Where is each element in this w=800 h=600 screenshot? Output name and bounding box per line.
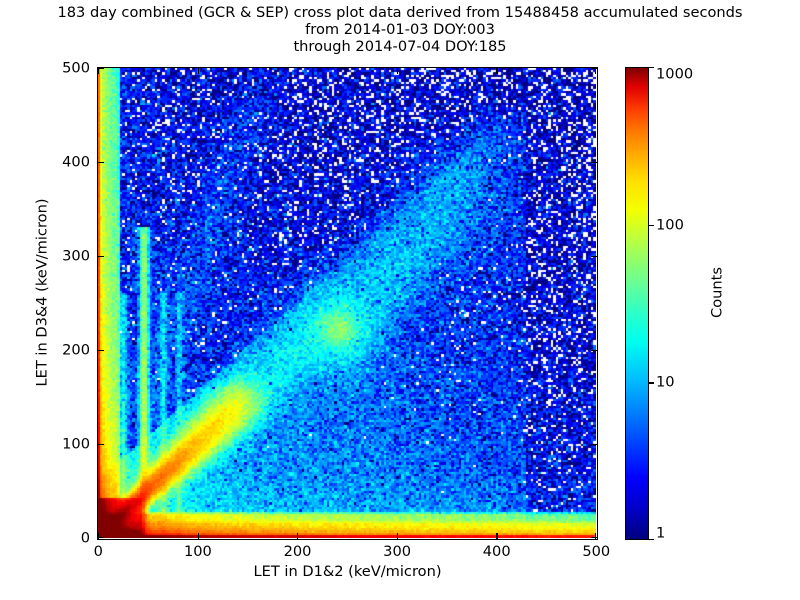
title-line-1: 183 day combined (GCR & SEP) cross plot … [0, 4, 800, 21]
colorbar-ticklabel-1: 1 [656, 525, 665, 542]
y-ticklabel-100: 100 [35, 436, 90, 453]
figure-title: 183 day combined (GCR & SEP) cross plot … [0, 4, 800, 56]
x-ticklabel-300: 300 [383, 543, 411, 560]
colorbar-tick-1 [649, 539, 654, 540]
histogram-canvas [98, 68, 596, 538]
y-tick-500 [591, 68, 597, 69]
y-tick-0 [591, 537, 597, 538]
y-axis-label: LET in D3&4 (keV/micron) [34, 163, 51, 423]
colorbar-tick-1000 [649, 67, 654, 68]
y-tick-0 [98, 537, 104, 538]
colorbar-ticklabel-100: 100 [656, 216, 684, 233]
y-ticklabel-0: 0 [35, 530, 90, 547]
x-tick-200 [297, 533, 298, 539]
x-tick-200 [297, 68, 298, 74]
colorbar-tick-100 [649, 225, 654, 226]
x-tick-300 [397, 68, 398, 74]
x-tick-100 [198, 68, 199, 74]
colorbar-gradient [625, 67, 649, 540]
x-tick-400 [496, 533, 497, 539]
y-ticklabel-500: 500 [35, 60, 90, 77]
x-tick-300 [397, 533, 398, 539]
y-tick-200 [98, 350, 104, 351]
x-ticklabel-500: 500 [582, 543, 610, 560]
colorbar-ticklabel-10: 10 [656, 374, 675, 391]
y-tick-400 [591, 162, 597, 163]
colorbar-tick-10 [649, 382, 654, 383]
x-tick-100 [198, 533, 199, 539]
matplotlib-figure: 183 day combined (GCR & SEP) cross plot … [0, 0, 800, 600]
x-ticklabel-0: 0 [94, 543, 103, 560]
x-ticklabel-100: 100 [184, 543, 212, 560]
title-line-2: from 2014-01-03 DOY:003 [0, 21, 800, 38]
y-tick-300 [591, 256, 597, 257]
x-ticklabel-200: 200 [284, 543, 312, 560]
x-ticklabel-400: 400 [483, 543, 511, 560]
colorbar[interactable]: 1101001000 [625, 67, 649, 540]
y-tick-400 [98, 162, 104, 163]
colorbar-ticklabel-1000: 1000 [656, 66, 693, 83]
y-tick-100 [591, 444, 597, 445]
title-line-3: through 2014-07-04 DOY:185 [0, 38, 800, 55]
x-axis-label: LET in D1&2 (keV/micron) [97, 563, 598, 580]
x-tick-400 [496, 68, 497, 74]
colorbar-label: Counts [709, 213, 726, 373]
y-tick-200 [591, 350, 597, 351]
plot-axes[interactable] [97, 67, 598, 540]
y-tick-300 [98, 256, 104, 257]
y-tick-500 [98, 68, 104, 69]
y-tick-100 [98, 444, 104, 445]
